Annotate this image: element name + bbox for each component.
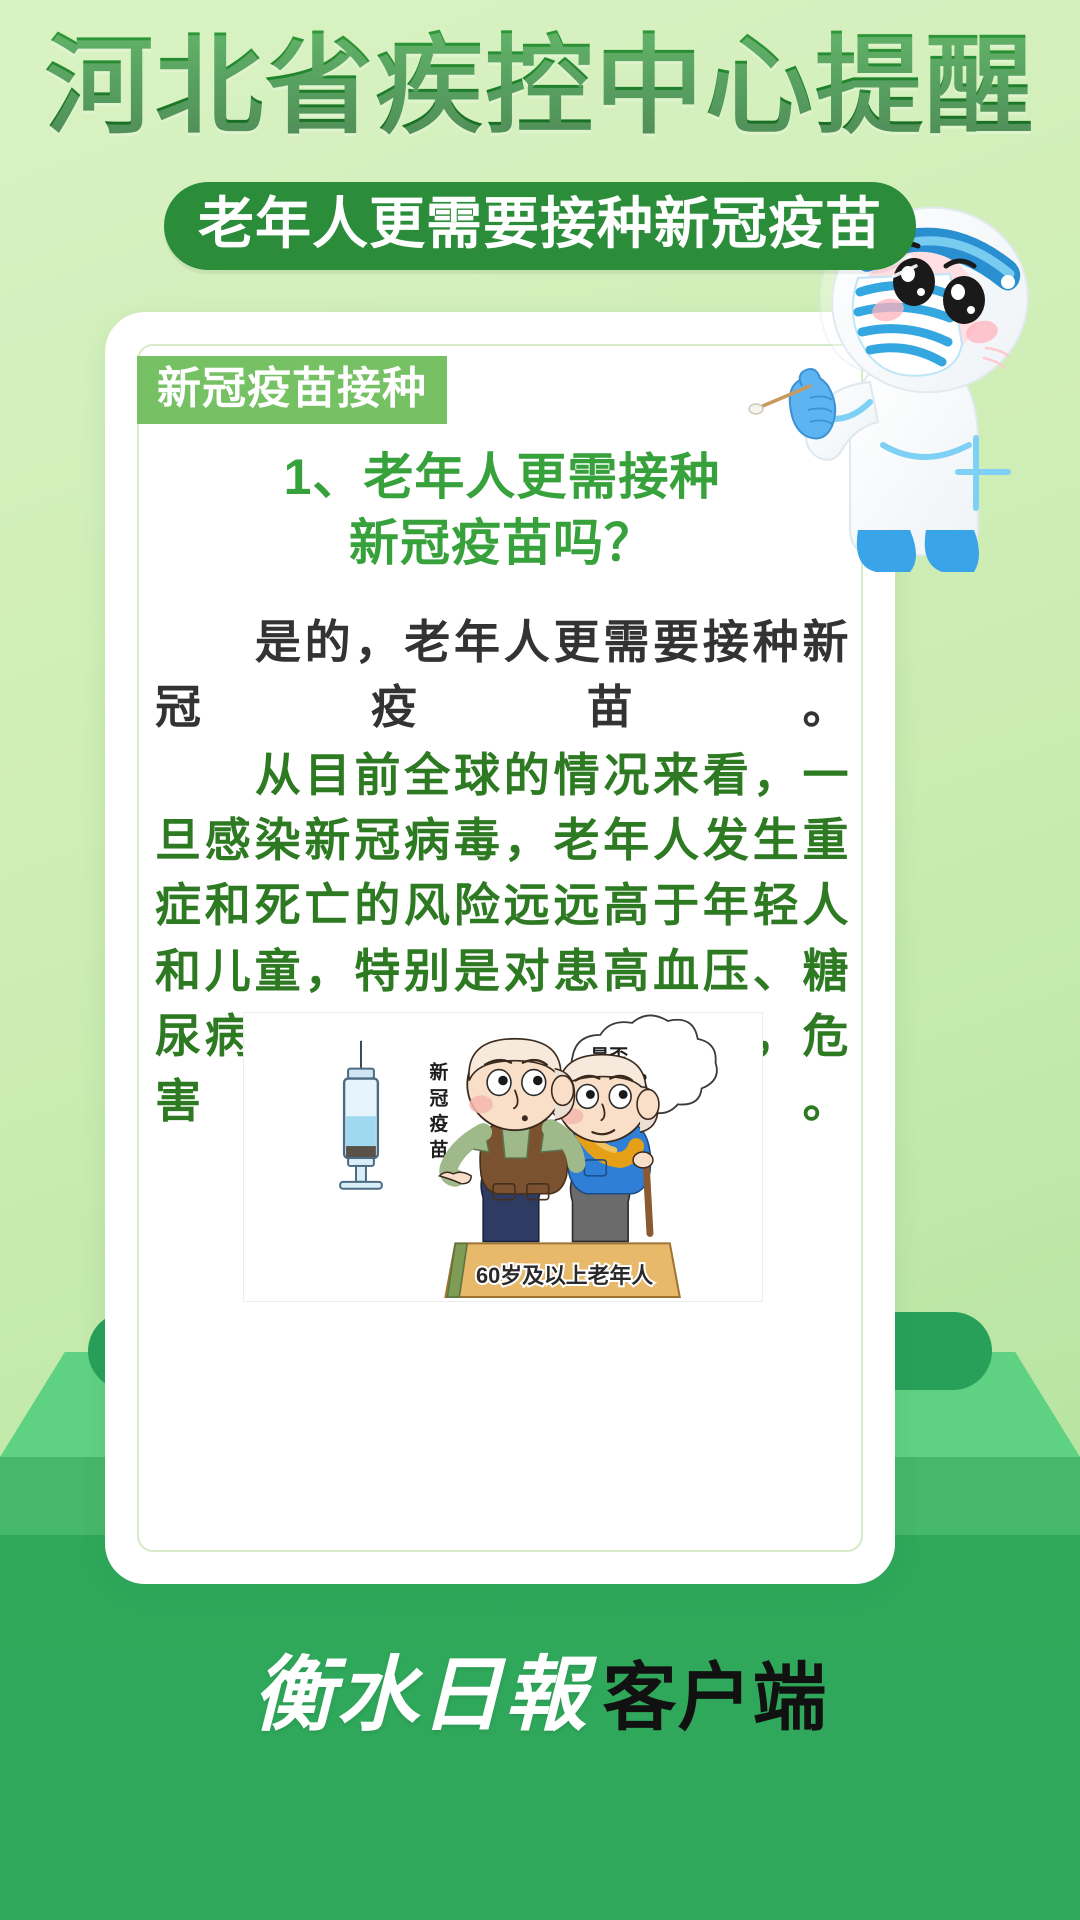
header: 河北省疾控中心提醒 — [0, 28, 1080, 145]
poster-root: 河北省疾控中心提醒 老年人更需要接种新冠疫苗 新冠疫苗接种 1、老年人更需接种 … — [0, 0, 1080, 1920]
section-tag-label: 新冠疫苗接种 — [157, 364, 427, 413]
question-heading: 1、老年人更需接种 新冠疫苗吗？ — [155, 444, 849, 576]
svg-text:新: 新 — [430, 1061, 449, 1083]
section-tag: 新冠疫苗接种 — [137, 356, 447, 424]
subtitle-pill: 老年人更需要接种新冠疫苗 — [164, 182, 916, 270]
page-title: 河北省疾控中心提醒 — [0, 28, 1080, 145]
answer-paragraph: 是的，老年人更需要接种新冠疫苗。 — [155, 610, 849, 741]
illustration-panel: 新 冠 疫 苗 是否 可以接种？ — [243, 1012, 763, 1302]
podium: 60岁及以上老年人 — [445, 1243, 679, 1297]
subtitle-pill-label: 老年人更需要接种新冠疫苗 — [198, 196, 882, 252]
mascot-eyes — [892, 244, 985, 324]
question-heading-line2: 新冠疫苗吗？ — [155, 510, 849, 576]
podium-label: 60岁及以上老年人 — [476, 1263, 653, 1288]
brand-lockup: 衡水日報 客户端 — [253, 1628, 828, 1747]
mascot-boot-right — [925, 530, 979, 572]
svg-text:冠: 冠 — [430, 1087, 449, 1108]
content-card: 新冠疫苗接种 1、老年人更需接种 新冠疫苗吗？ 是的，老年人更需要接种新冠疫苗。… — [105, 312, 895, 1584]
answer-paragraph-text: 是的，老年人更需要接种新冠疫苗。 — [155, 616, 849, 733]
footer: 衡水日報 客户端 — [0, 1535, 1080, 1920]
brand-primary: 衡水日報 — [253, 1628, 589, 1747]
brand-secondary: 客户端 — [603, 1638, 828, 1745]
question-heading-line1: 1、老年人更需接种 — [284, 449, 721, 505]
svg-text:疫: 疫 — [430, 1112, 449, 1134]
